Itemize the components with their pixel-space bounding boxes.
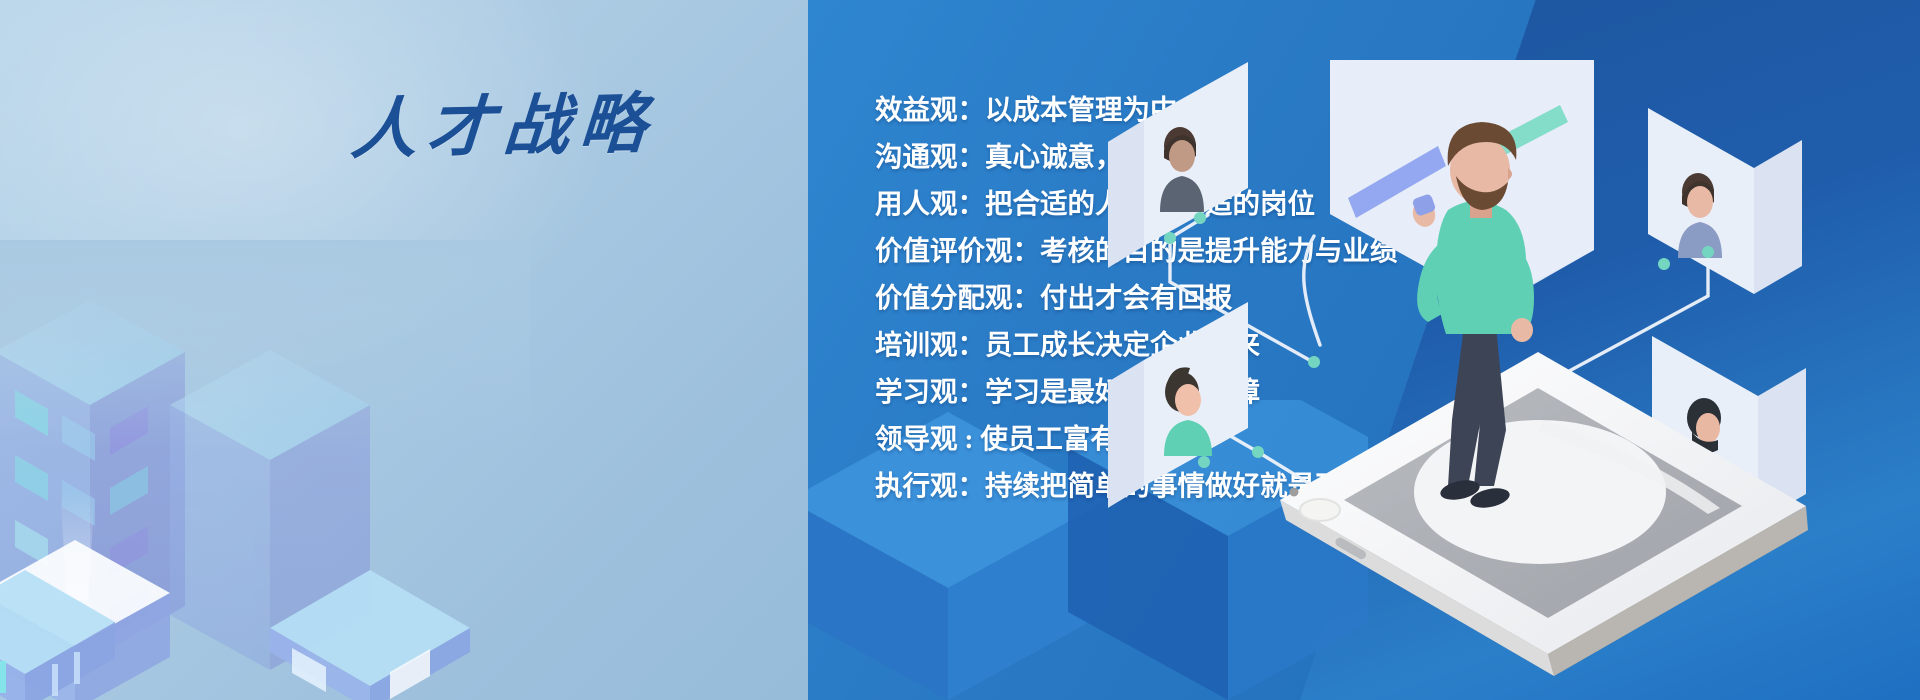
profile-card-top-left [1108,62,1248,274]
left-panel: 人才战略 [0,0,808,700]
slide-canvas: 人才战略 效益观：以成本管理为中心 沟通观：真心诚意，知彼解己 用人观：把合适的… [0,0,1920,700]
page-title: 人才战略 [348,68,775,173]
isometric-network-illustration [1108,0,1920,700]
isometric-city-illustration [0,240,530,700]
profile-card-bottom-left [1108,302,1248,514]
profile-card-top-right [1648,108,1802,294]
right-panel: 效益观：以成本管理为中心 沟通观：真心诚意，知彼解己 用人观：把合适的人放到合适… [808,0,1920,700]
